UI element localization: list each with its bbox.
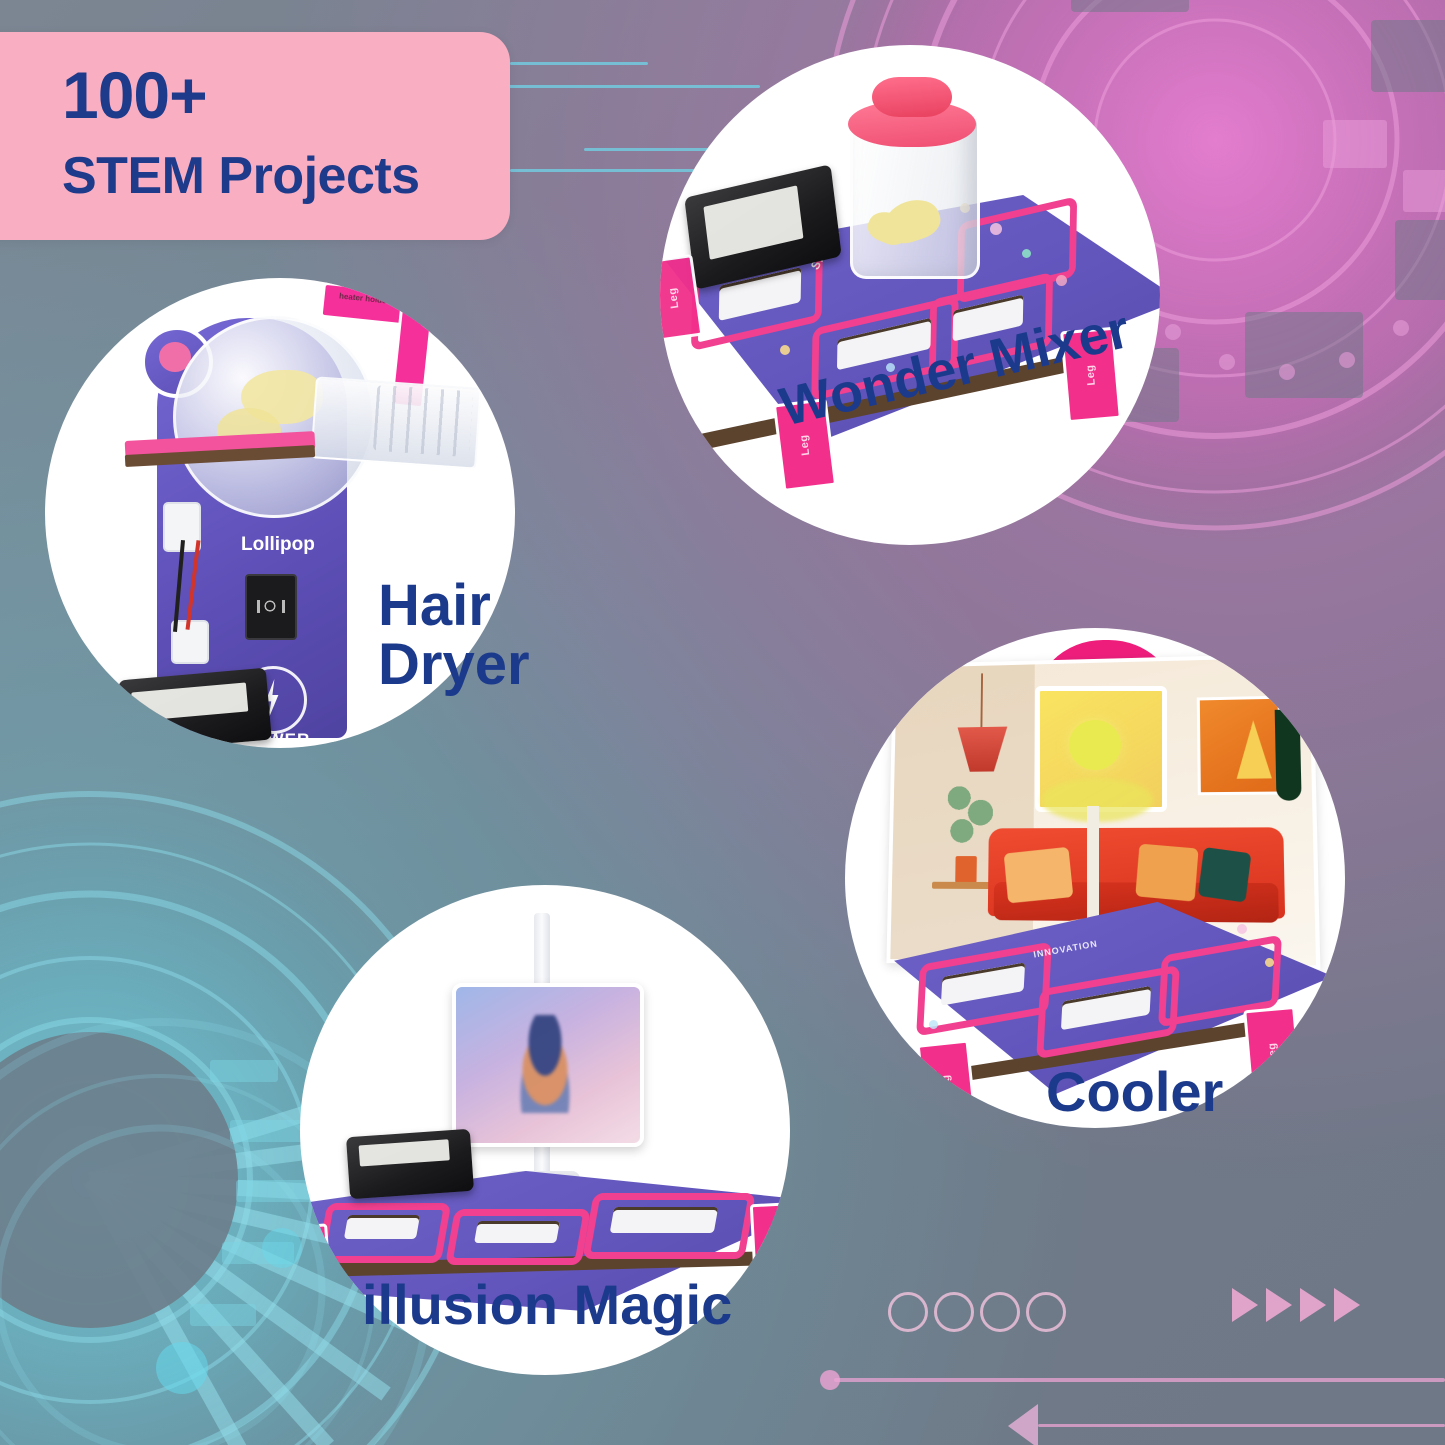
battery-label: [359, 1139, 450, 1166]
illusion-battery-box: [346, 1129, 474, 1199]
hud-play-triangle-icon: [1300, 1288, 1326, 1322]
space-icon: [1056, 275, 1067, 286]
space-icon: [929, 1020, 938, 1029]
product-label-cooler: Cooler: [1046, 1063, 1223, 1120]
illusion-cutout: [344, 1215, 420, 1239]
illusion-character-icon: [510, 1015, 580, 1113]
speed-line: [510, 169, 708, 172]
leg-label: Leg: [667, 287, 682, 310]
space-icon: [1022, 249, 1031, 258]
dryer-nozzle-rings-icon: [373, 385, 473, 458]
speed-line: [508, 85, 760, 88]
cooler-fan-hub-icon: [1069, 720, 1121, 770]
illusion-leg: Leg: [300, 1223, 333, 1310]
sofa-cushion: [1135, 844, 1198, 902]
leg-label: Leg: [798, 434, 812, 456]
space-icon: [1237, 924, 1247, 934]
hud-ring-icon: [934, 1292, 974, 1332]
product-marketing-image: 100+ STEM Projects SMART: [0, 0, 1445, 1445]
space-icon: [780, 345, 790, 355]
hud-horizontal-line: [834, 1378, 1445, 1382]
product-circle-wonder-mixer[interactable]: SMART Leg Leg Leg: [660, 45, 1160, 545]
hud-left-arrow-icon: [1008, 1404, 1038, 1445]
hud-ring-icon: [888, 1292, 928, 1332]
wall-art-dark-icon: [1275, 709, 1302, 800]
illusion-cutout: [474, 1221, 560, 1243]
illusion-leg: Leg: [750, 1202, 790, 1290]
illusion-spinning-card: [452, 983, 644, 1147]
stem-projects-banner: 100+ STEM Projects: [0, 32, 510, 240]
hud-ring-icon: [1026, 1292, 1066, 1332]
sofa-cushion: [1004, 847, 1074, 904]
cooler-fan-post: [1087, 806, 1099, 934]
dryer-battery-box: [118, 668, 272, 748]
product-label-hair-dryer: HairDryer: [378, 576, 530, 694]
leg-label: Leg: [300, 1256, 312, 1278]
hud-play-triangle-icon: [1266, 1288, 1292, 1322]
space-icon: [990, 223, 1002, 235]
hud-ring-icon: [980, 1292, 1020, 1332]
banner-count: 100+: [62, 62, 420, 128]
leg-label: Leg: [770, 1235, 783, 1257]
cooler-leg: Leg: [917, 1040, 978, 1128]
product-circle-cooler[interactable]: INNOVATION Leg Leg: [845, 628, 1345, 1128]
product-label-illusion-magic: illusion Magic: [362, 1276, 732, 1333]
switch-glyph-icon: [255, 596, 287, 616]
hud-play-triangle-icon: [1232, 1288, 1258, 1322]
space-icon: [1265, 958, 1274, 967]
leg-label: Leg: [1266, 1042, 1280, 1064]
illusion-cutout: [610, 1207, 719, 1233]
hud-play-triangle-icon: [1334, 1288, 1360, 1322]
dryer-body-text: Lollipop: [241, 534, 315, 556]
leg-label: Leg: [940, 1074, 954, 1096]
battery-label: [131, 682, 249, 721]
hud-arrow-line: [1038, 1424, 1445, 1427]
battery-label: [703, 185, 803, 260]
banner-subtitle: STEM Projects: [62, 150, 420, 202]
dryer-rocker-switch[interactable]: [245, 574, 297, 640]
cooler-leg: Leg: [1243, 1006, 1303, 1100]
brand-logo-icon: [1272, 665, 1297, 689]
mixer-jar-knob: [872, 77, 952, 117]
sofa-cushion: [1198, 847, 1252, 903]
speed-line: [510, 62, 648, 65]
wall-art-icon: [1197, 696, 1283, 796]
